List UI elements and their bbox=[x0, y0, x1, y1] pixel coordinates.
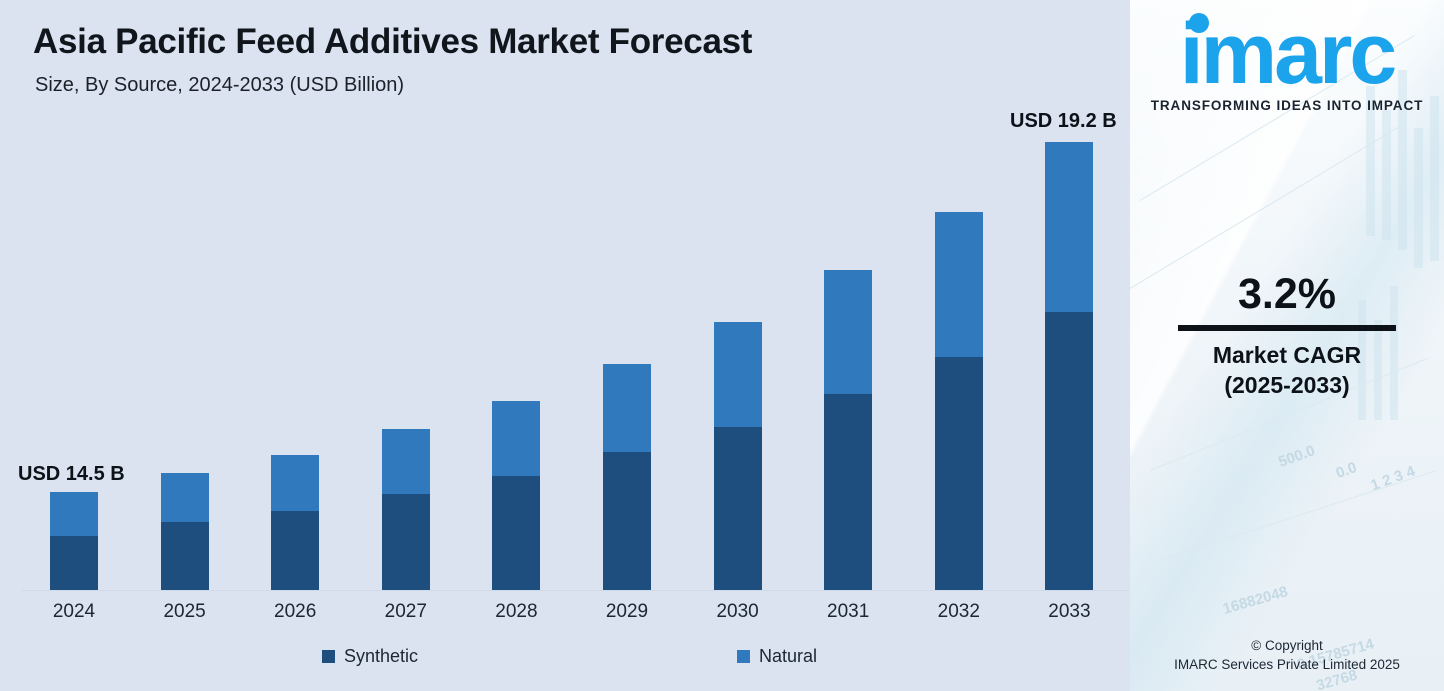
bar-segment-natural-2033[interactable] bbox=[1045, 142, 1093, 312]
bar-segment-synthetic-2025[interactable] bbox=[161, 522, 209, 590]
cagr-block: 3.2% Market CAGR (2025-2033) bbox=[1130, 272, 1444, 401]
bar-column-2029[interactable] bbox=[603, 364, 651, 590]
copyright-line-1: © Copyright bbox=[1130, 636, 1444, 656]
decorative-bar bbox=[1430, 96, 1439, 261]
bar-segment-natural-2024[interactable] bbox=[50, 492, 98, 536]
bar-segment-natural-2027[interactable] bbox=[382, 429, 430, 494]
copyright-line-2: IMARC Services Private Limited 2025 bbox=[1130, 655, 1444, 675]
legend-swatch-natural bbox=[737, 650, 750, 663]
x-axis-label-2032: 2032 bbox=[904, 601, 1014, 623]
bar-segment-natural-2028[interactable] bbox=[492, 401, 540, 476]
legend-item-synthetic[interactable]: Synthetic bbox=[322, 646, 418, 667]
bar-segment-natural-2030[interactable] bbox=[714, 322, 762, 427]
x-axis-label-2027: 2027 bbox=[351, 601, 461, 623]
legend-swatch-synthetic bbox=[322, 650, 335, 663]
bar-segment-natural-2031[interactable] bbox=[824, 270, 872, 394]
bar-column-2033[interactable] bbox=[1045, 142, 1093, 590]
decorative-bar bbox=[1382, 110, 1391, 240]
chart-panel: Asia Pacific Feed Additives Market Forec… bbox=[0, 0, 1130, 691]
logo-dot-icon bbox=[1189, 13, 1209, 33]
bar-segment-synthetic-2027[interactable] bbox=[382, 494, 430, 590]
bar-column-2027[interactable] bbox=[382, 429, 430, 590]
bar-column-2024[interactable] bbox=[50, 492, 98, 590]
decorative-bar bbox=[1414, 128, 1423, 268]
bar-column-2030[interactable] bbox=[714, 322, 762, 590]
x-axis-line bbox=[22, 590, 1127, 591]
bar-segment-synthetic-2031[interactable] bbox=[824, 394, 872, 590]
cagr-period: (2025-2033) bbox=[1130, 370, 1444, 401]
bar-segment-synthetic-2026[interactable] bbox=[271, 511, 319, 590]
side-panel: 500.0 0.0 1 2 3 4 16882048 0.15785714 32… bbox=[1130, 0, 1444, 691]
chart-infographic: Asia Pacific Feed Additives Market Forec… bbox=[0, 0, 1444, 691]
x-axis-label-2029: 2029 bbox=[572, 601, 682, 623]
x-axis-label-2025: 2025 bbox=[130, 601, 240, 623]
bar-segment-natural-2032[interactable] bbox=[935, 212, 983, 357]
bar-segment-natural-2026[interactable] bbox=[271, 455, 319, 511]
legend-label-synthetic: Synthetic bbox=[344, 646, 418, 667]
bar-segment-synthetic-2032[interactable] bbox=[935, 357, 983, 590]
bar-segment-synthetic-2029[interactable] bbox=[603, 452, 651, 590]
x-axis-label-2024: 2024 bbox=[19, 601, 129, 623]
chart-legend: Synthetic Natural bbox=[0, 646, 1130, 676]
bar-column-2031[interactable] bbox=[824, 270, 872, 590]
bar-segment-synthetic-2033[interactable] bbox=[1045, 312, 1093, 590]
x-axis-label-2028: 2028 bbox=[461, 601, 571, 623]
copyright-notice: © Copyright IMARC Services Private Limit… bbox=[1130, 636, 1444, 675]
bar-segment-synthetic-2028[interactable] bbox=[492, 476, 540, 590]
legend-item-natural[interactable]: Natural bbox=[737, 646, 817, 667]
bar-column-2028[interactable] bbox=[492, 401, 540, 590]
bar-segment-natural-2025[interactable] bbox=[161, 473, 209, 522]
plot-area: 2024202520262027202820292030203120322033 bbox=[0, 0, 1130, 691]
imarc-logo-wordmark: imarc bbox=[1180, 14, 1395, 96]
cagr-value: 3.2% bbox=[1130, 272, 1444, 317]
bar-column-2025[interactable] bbox=[161, 473, 209, 590]
imarc-logo-text: imarc bbox=[1180, 6, 1395, 102]
value-callout-first: USD 14.5 B bbox=[18, 463, 125, 486]
legend-label-natural: Natural bbox=[759, 646, 817, 667]
x-axis-label-2026: 2026 bbox=[240, 601, 350, 623]
bar-column-2026[interactable] bbox=[271, 455, 319, 590]
cagr-divider bbox=[1178, 325, 1396, 331]
x-axis-label-2030: 2030 bbox=[683, 601, 793, 623]
imarc-logo[interactable]: imarc TRANSFORMING IDEAS INTO IMPACT bbox=[1130, 14, 1444, 113]
bar-segment-natural-2029[interactable] bbox=[603, 364, 651, 453]
value-callout-last: USD 19.2 B bbox=[1010, 110, 1117, 133]
bar-column-2032[interactable] bbox=[935, 212, 983, 590]
bar-segment-synthetic-2030[interactable] bbox=[714, 427, 762, 590]
bar-segment-synthetic-2024[interactable] bbox=[50, 536, 98, 590]
x-axis-label-2033: 2033 bbox=[1014, 601, 1124, 623]
cagr-label: Market CAGR bbox=[1130, 341, 1444, 370]
x-axis-label-2031: 2031 bbox=[793, 601, 903, 623]
